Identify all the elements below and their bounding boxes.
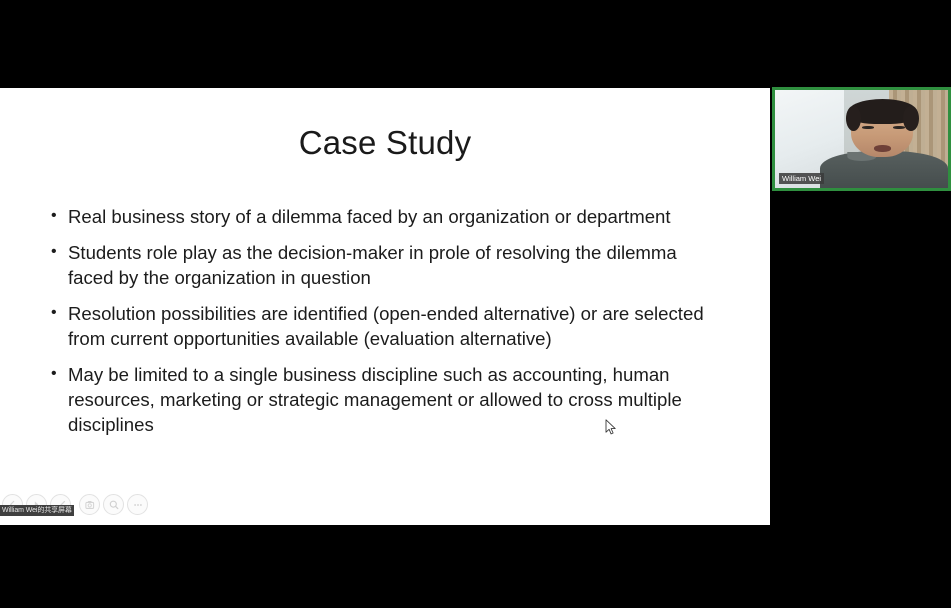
video-person-mouth [874, 145, 891, 152]
more-options-icon[interactable] [127, 494, 148, 515]
slide-title: Case Study [0, 124, 770, 162]
zoom-magnifier-icon[interactable] [103, 494, 124, 515]
share-owner-nametag: William Wei的共享屏幕 [0, 505, 74, 516]
video-person-torso [820, 151, 948, 190]
participant-nametag: William Wei [779, 173, 824, 184]
slide-bullet-item: Resolution possibilities are identified … [47, 301, 723, 351]
camera-snapshot-icon[interactable] [79, 494, 100, 515]
slide-bullet-item: Real business story of a dilemma faced b… [47, 204, 723, 229]
shared-screen-area[interactable]: Case Study Real business story of a dile… [0, 88, 770, 525]
video-person-hair-side-right [903, 106, 919, 131]
participant-video-tile[interactable]: William Wei [772, 87, 951, 191]
slide-bullet-item: May be limited to a single business disc… [47, 362, 723, 437]
meeting-window: Case Study Real business story of a dile… [0, 0, 951, 608]
slide-bullet-list: Real business story of a dilemma faced b… [47, 204, 723, 448]
slide-bullet-item: Students role play as the decision-maker… [47, 240, 723, 290]
